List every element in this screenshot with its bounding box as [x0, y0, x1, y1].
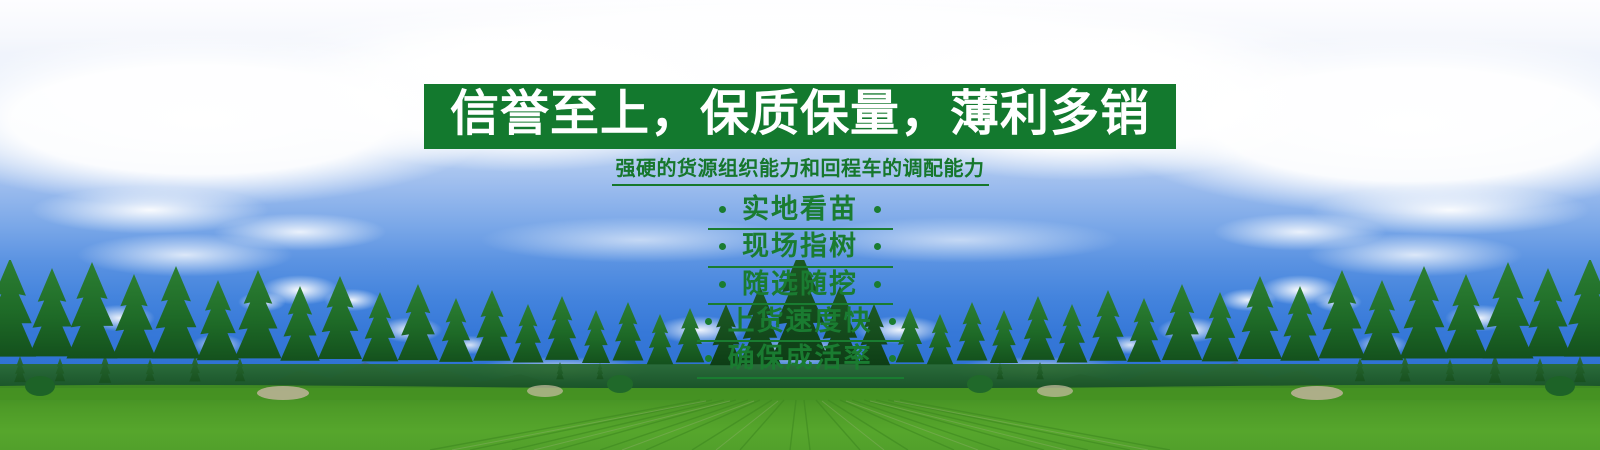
feature-item: 现场指树: [708, 230, 893, 267]
bullet-dot-icon: [889, 318, 896, 325]
promotional-banner: 信誉至上，保质保量，薄利多销 强硬的货源组织能力和回程车的调配能力 实地看苗 现…: [0, 0, 1600, 450]
feature-label: 实地看苗: [742, 194, 858, 225]
feature-list: 实地看苗 现场指树 随选随挖 上货速度快 确保成活率: [697, 193, 904, 380]
headline-bar: 信誉至上，保质保量，薄利多销: [424, 84, 1176, 149]
feature-label: 随选随挖: [742, 269, 858, 300]
bullet-dot-icon: [874, 206, 881, 213]
feature-item: 上货速度快: [697, 305, 904, 342]
bullet-dot-icon: [889, 355, 896, 362]
bullet-dot-icon: [874, 243, 881, 250]
bullet-dot-icon: [705, 355, 712, 362]
headline-text: 信誉至上，保质保量，薄利多销: [450, 87, 1150, 142]
feature-label: 确保成活率: [728, 343, 873, 374]
subtitle-text: 强硬的货源组织能力和回程车的调配能力: [612, 156, 989, 186]
bullet-dot-icon: [874, 281, 881, 288]
banner-content: 信誉至上，保质保量，薄利多销 强硬的货源组织能力和回程车的调配能力 实地看苗 现…: [0, 0, 1600, 450]
bullet-dot-icon: [719, 243, 726, 250]
feature-item: 随选随挖: [708, 268, 893, 305]
feature-item: 确保成活率: [697, 342, 904, 379]
feature-item: 实地看苗: [708, 193, 893, 230]
feature-label: 现场指树: [742, 231, 858, 262]
bullet-dot-icon: [705, 318, 712, 325]
bullet-dot-icon: [719, 281, 726, 288]
feature-label: 上货速度快: [728, 306, 873, 337]
bullet-dot-icon: [719, 206, 726, 213]
